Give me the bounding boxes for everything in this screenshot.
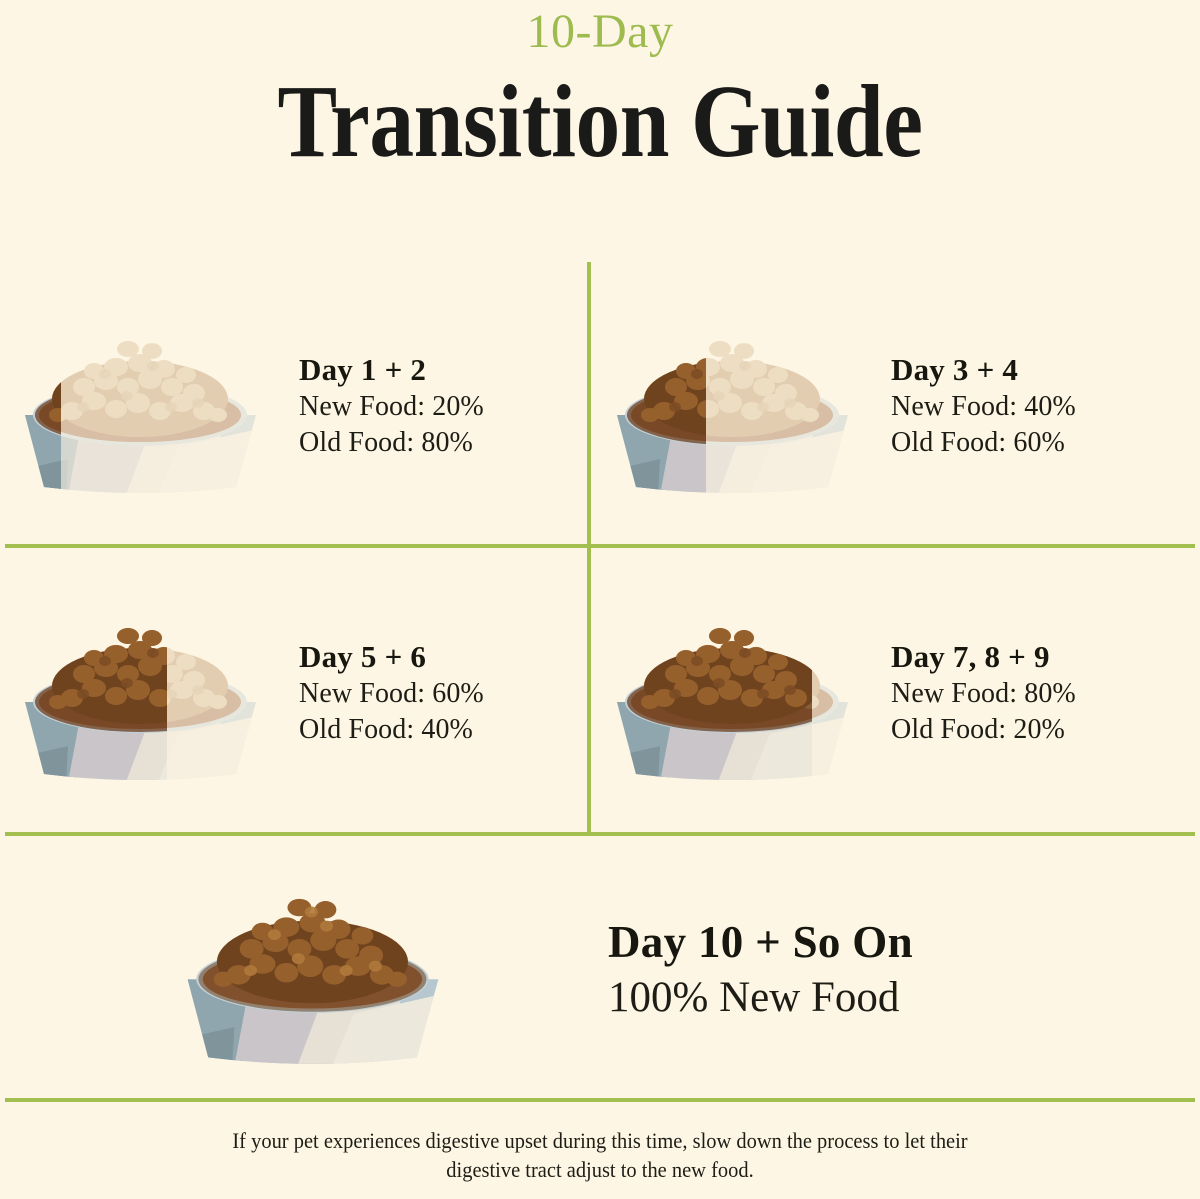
dog-bowl-icon <box>600 606 865 781</box>
step-card-day-7-8-9: Day 7, 8 + 9 New Food: 80% Old Food: 20% <box>600 560 1180 826</box>
footer-line-1: If your pet experiences digestive upset … <box>42 1126 1158 1155</box>
dog-bowl-icon <box>8 606 273 781</box>
footer-note: If your pet experiences digestive upset … <box>42 1126 1158 1184</box>
eyebrow-text: 10-Day <box>0 0 1200 56</box>
footer-line-2: digestive tract adjust to the new food. <box>42 1155 1158 1184</box>
step-text-day-5-6: Day 5 + 6 New Food: 60% Old Food: 40% <box>273 639 580 748</box>
final-step-subtitle: 100% New Food <box>608 973 1188 1022</box>
step-card-day-1-2: Day 1 + 2 New Food: 20% Old Food: 80% <box>8 276 580 536</box>
old-food-line: Old Food: 40% <box>299 712 580 748</box>
dog-bowl-icon <box>600 319 865 494</box>
bowl-illustration-day-5-6 <box>8 606 273 781</box>
dog-bowl-icon <box>8 319 273 494</box>
new-food-line: New Food: 40% <box>891 389 1180 425</box>
bowl-illustration-day-10 <box>168 875 458 1065</box>
page-header: 10-Day Transition Guide <box>0 0 1200 174</box>
old-food-line: Old Food: 80% <box>299 425 580 461</box>
step-card-day-3-4: Day 3 + 4 New Food: 40% Old Food: 60% <box>600 276 1180 536</box>
divider-horizontal-footer <box>5 1098 1195 1102</box>
divider-horizontal-middle <box>5 544 1195 548</box>
step-text-day-7-8-9: Day 7, 8 + 9 New Food: 80% Old Food: 20% <box>865 639 1180 748</box>
step-text-day-1-2: Day 1 + 2 New Food: 20% Old Food: 80% <box>273 352 580 461</box>
divider-horizontal-lower <box>5 832 1195 836</box>
page-title: Transition Guide <box>84 70 1116 174</box>
bowl-illustration-day-1-2 <box>8 319 273 494</box>
infographic-page: 10-Day Transition Guide <box>0 0 1200 1199</box>
bowl-illustration-day-7-8-9 <box>600 606 865 781</box>
final-step-title: Day 10 + So On <box>608 918 1188 968</box>
step-title: Day 1 + 2 <box>299 352 580 387</box>
new-food-line: New Food: 80% <box>891 676 1180 712</box>
new-food-line: New Food: 20% <box>299 389 580 425</box>
new-food-line: New Food: 60% <box>299 676 580 712</box>
bowl-illustration-day-3-4 <box>600 319 865 494</box>
dog-bowl-icon <box>168 875 458 1065</box>
final-step-text: Day 10 + So On 100% New Food <box>458 918 1188 1023</box>
step-card-day-10-and-on: Day 10 + So On 100% New Food <box>8 850 1188 1090</box>
step-card-day-5-6: Day 5 + 6 New Food: 60% Old Food: 40% <box>8 560 580 826</box>
step-title: Day 5 + 6 <box>299 639 580 674</box>
step-title: Day 7, 8 + 9 <box>891 639 1180 674</box>
divider-vertical <box>587 262 591 834</box>
step-text-day-3-4: Day 3 + 4 New Food: 40% Old Food: 60% <box>865 352 1180 461</box>
step-title: Day 3 + 4 <box>891 352 1180 387</box>
old-food-line: Old Food: 20% <box>891 712 1180 748</box>
old-food-line: Old Food: 60% <box>891 425 1180 461</box>
